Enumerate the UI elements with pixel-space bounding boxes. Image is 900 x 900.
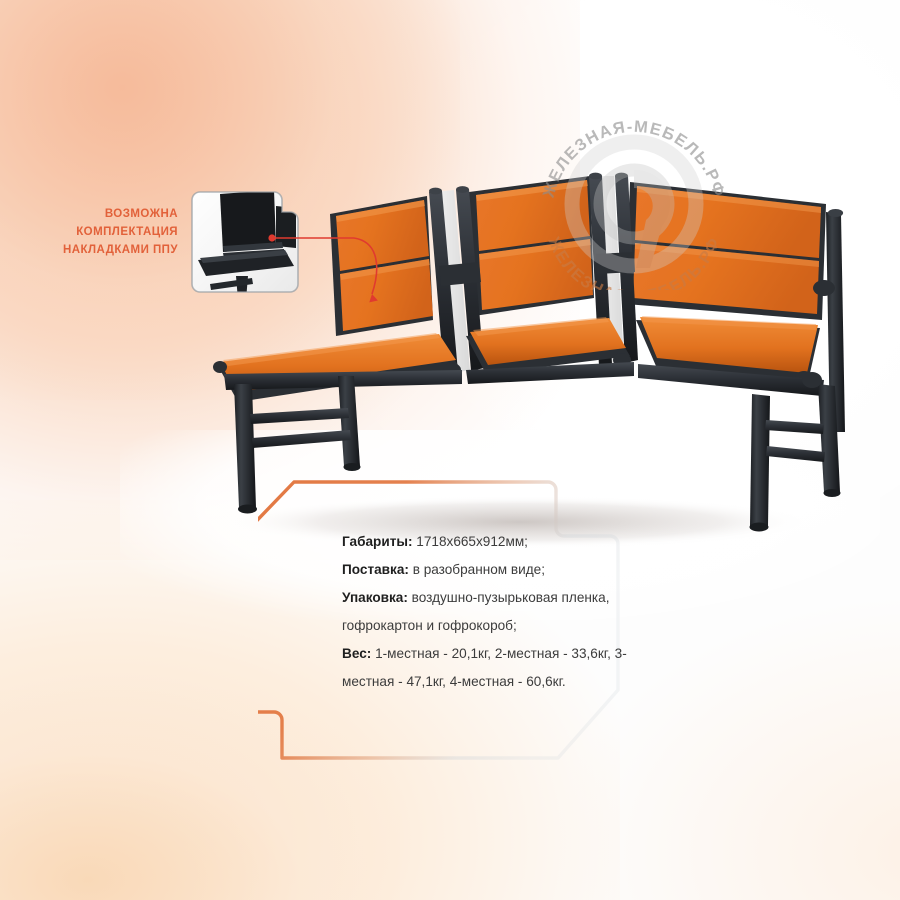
leg-left-front [234,384,257,514]
promo-label-line-1: ВОЗМОЖНА [18,206,178,224]
spec-row-packaging: Упаковка: воздушно-пузырьковая пленка, г… [342,584,672,640]
promo-label: ВОЗМОЖНА КОМПЛЕКТАЦИЯ НАКЛАДКАМИ ППУ [18,206,178,259]
side-knob-lower [802,372,822,388]
spec-value-dimensions: 1718х665х912мм; [413,534,528,549]
pointer-arrowhead [368,293,378,302]
brace-left-lower [252,430,351,448]
side-knob-upper [813,280,835,296]
backrest-seat-3 [626,182,826,320]
spec-text-block: Габариты: 1718х665х912мм; Поставка: в ра… [342,528,672,696]
brace-right-upper [765,420,824,434]
spec-row-dimensions: Габариты: 1718х665х912мм; [342,528,672,556]
spec-label-weight: Вес: [342,646,371,661]
spec-label-dimensions: Габариты: [342,534,413,549]
promo-label-line-2: КОМПЛЕКТАЦИЯ [18,224,178,242]
spec-label-packaging: Упаковка: [342,590,408,605]
product-image-canvas: ЖЕЛЕЗНАЯ-МЕБЕЛЬ.РФ ЖЕЛЕЗНАЯ-МЕБЕЛЬ.РФ ВО… [0,0,900,900]
leg-right-front [750,394,771,532]
spec-row-weight: Вес: 1-местная - 20,1кг, 2-местная - 33,… [342,640,672,696]
promo-label-line-3: НАКЛАДКАМИ ППУ [18,242,178,260]
spec-value-delivery: в разобранном виде; [409,562,545,577]
leg-left-rear [338,376,361,471]
brace-right-lower [766,446,825,462]
callout-pointer [268,218,408,318]
spec-label-delivery: Поставка: [342,562,409,577]
brace-left-upper [250,408,349,424]
spec-value-weight: 1-местная - 20,1кг, 2-местная - 33,6кг, … [342,646,627,689]
backrest-seat-2 [469,176,594,316]
spec-row-delivery: Поставка: в разобранном виде; [342,556,672,584]
